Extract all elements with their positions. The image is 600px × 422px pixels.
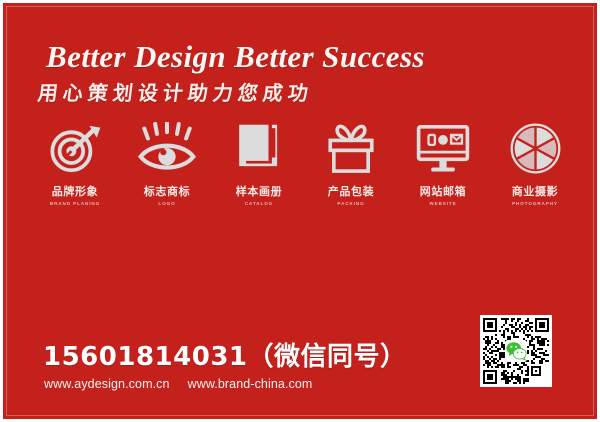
service-item-packing: 产品包装 PACKING [305, 119, 397, 206]
eye-icon [134, 119, 200, 177]
website-urls: www.aydesign.com.cnwww.brand-china.com [44, 377, 312, 391]
wechat-logo [505, 340, 527, 362]
target-dart-icon [42, 119, 108, 177]
service-label-en: CATALOG [245, 201, 273, 206]
poster-canvas: Better Design Better Success 用心策划设计助力您成功… [0, 0, 600, 422]
monitor-icon [410, 119, 476, 177]
url-primary[interactable]: www.aydesign.com.cn [44, 377, 170, 391]
service-label-en: WEBSITE [429, 201, 456, 206]
service-label-cn: 产品包装 [328, 183, 374, 199]
service-label-cn: 网站邮箱 [420, 183, 466, 199]
service-item-catalog: 样本画册 CATALOG [213, 119, 305, 206]
service-label-cn: 商业摄影 [512, 183, 558, 199]
service-label-cn: 品牌形象 [52, 183, 98, 199]
phone-number: 15601814031（微信同号） [43, 336, 407, 373]
wechat-qr-code [480, 315, 552, 387]
url-secondary[interactable]: www.brand-china.com [188, 377, 313, 391]
service-item-logo: 标志商标 LOGO [121, 119, 213, 206]
service-item-photography: 商业摄影 PHOTOGRAPHY [489, 119, 581, 206]
services-row: 品牌形象 BRAND PLANING 标志商标 [29, 119, 581, 206]
camera-shutter-icon [502, 119, 568, 177]
headline-chinese: 用心策划设计助力您成功 [36, 77, 315, 106]
gift-box-icon [318, 119, 384, 177]
service-item-website: 网站邮箱 WEBSITE [397, 119, 489, 206]
headline-english: Better Design Better Success [46, 39, 425, 75]
service-item-brand-planning: 品牌形象 BRAND PLANING [29, 119, 121, 206]
service-label-en: LOGO [158, 201, 175, 206]
service-label-en: BRAND PLANING [50, 201, 100, 206]
service-label-cn: 样本画册 [236, 183, 282, 199]
service-label-cn: 标志商标 [144, 183, 190, 199]
book-icon [226, 119, 292, 177]
service-label-en: PHOTOGRAPHY [512, 201, 558, 206]
service-label-en: PACKING [337, 201, 364, 206]
